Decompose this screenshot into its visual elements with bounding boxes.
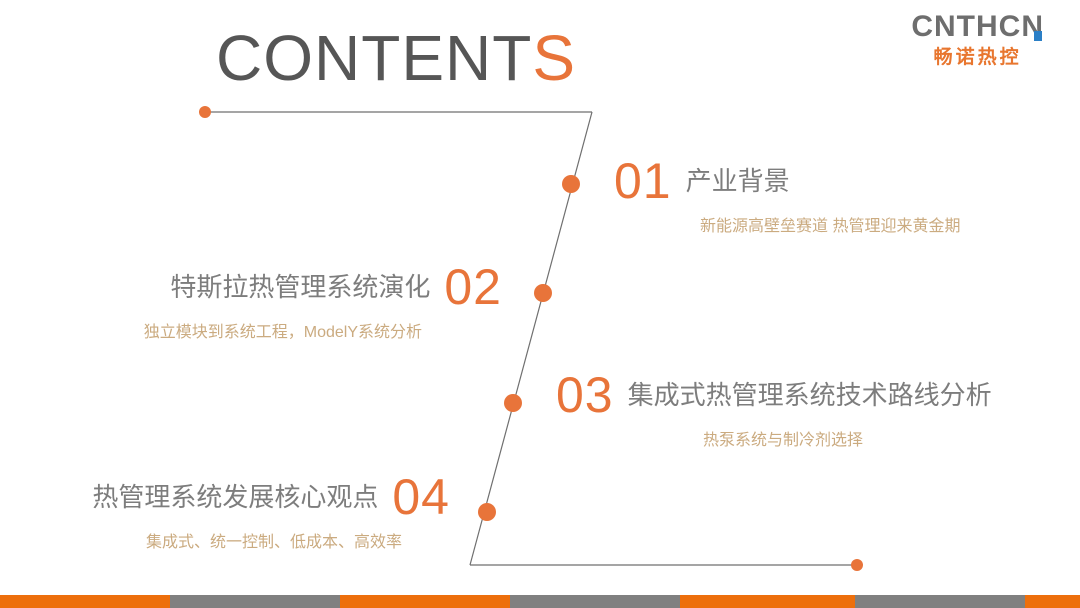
dot-bottom-end	[851, 559, 863, 571]
toc-entry-04-title: 热管理系统发展核心观点	[92, 484, 378, 510]
slide-canvas: CNTHCN 畅诺热控 CONTENTS 01 产业背景 新能源高壁垒赛道 热管…	[0, 0, 1080, 608]
toc-entry-02-number: 02	[444, 262, 502, 312]
page-title-accent: S	[532, 22, 576, 94]
dot-entry-01	[562, 175, 580, 193]
toc-entry-01-subtitle: 新能源高壁垒赛道 热管理迎来黄金期	[700, 219, 960, 235]
toc-entry-02[interactable]: 特斯拉热管理系统演化 02 独立模块到系统工程，ModelY系统分析	[144, 262, 502, 341]
toc-entry-01-row: 01 产业背景	[614, 156, 960, 206]
toc-entry-01[interactable]: 01 产业背景 新能源高壁垒赛道 热管理迎来黄金期	[614, 156, 960, 235]
page-title: CONTENTS	[216, 26, 576, 90]
dot-entry-04	[478, 503, 496, 521]
toc-entry-04-row: 热管理系统发展核心观点 04	[92, 472, 450, 522]
toc-entry-03-subtitle: 热泵系统与制冷剂选择	[703, 433, 992, 449]
logo-wordmark: CNTHCN	[911, 12, 1044, 42]
footer-bar-segment	[0, 595, 170, 608]
toc-entry-03-number: 03	[556, 370, 614, 420]
toc-entry-04[interactable]: 热管理系统发展核心观点 04 集成式、统一控制、低成本、高效率	[92, 472, 450, 551]
dot-entry-02	[534, 284, 552, 302]
dot-entry-03	[504, 394, 522, 412]
footer-bar-segment	[510, 595, 680, 608]
toc-entry-01-number: 01	[614, 156, 672, 206]
toc-entry-03-title: 集成式热管理系统技术路线分析	[628, 382, 992, 408]
footer-color-bar	[0, 595, 1080, 608]
page-title-main: CONTENT	[216, 22, 532, 94]
footer-bar-segment	[340, 595, 510, 608]
footer-bar-segment	[170, 595, 340, 608]
logo-accent-square	[1034, 31, 1042, 41]
brand-logo: CNTHCN 畅诺热控	[911, 12, 1044, 67]
dot-title-start	[199, 106, 211, 118]
toc-entry-04-subtitle: 集成式、统一控制、低成本、高效率	[92, 535, 402, 551]
toc-entry-02-subtitle: 独立模块到系统工程，ModelY系统分析	[144, 325, 422, 341]
toc-entry-03[interactable]: 03 集成式热管理系统技术路线分析 热泵系统与制冷剂选择	[556, 370, 992, 449]
footer-bar-segment	[680, 595, 855, 608]
logo-wordmark-text: CNTHCN	[911, 10, 1044, 43]
toc-entry-02-row: 特斯拉热管理系统演化 02	[144, 262, 502, 312]
toc-entry-03-row: 03 集成式热管理系统技术路线分析	[556, 370, 992, 420]
footer-bar-segment	[855, 595, 1025, 608]
toc-entry-01-title: 产业背景	[686, 168, 790, 194]
footer-bar-segment	[1025, 595, 1080, 608]
toc-entry-04-number: 04	[392, 472, 450, 522]
logo-chinese-name: 畅诺热控	[911, 48, 1044, 67]
toc-entry-02-title: 特斯拉热管理系统演化	[170, 274, 430, 300]
